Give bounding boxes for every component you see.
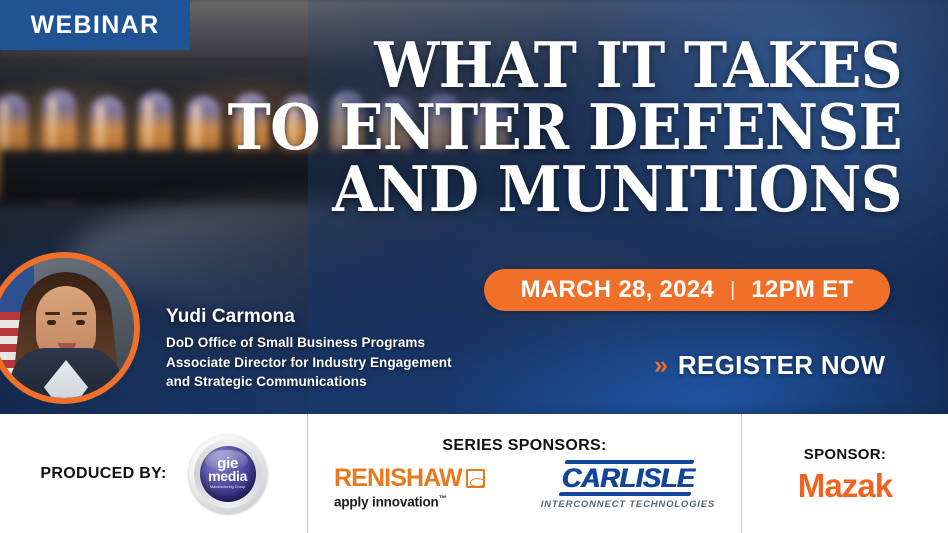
- carlisle-swoosh-bottom: [559, 492, 692, 496]
- webinar-badge: WEBINAR: [0, 0, 190, 50]
- webinar-time: 12PM ET: [751, 276, 853, 304]
- renishaw-logo: RENISHAW apply innovation™: [334, 466, 485, 510]
- series-sponsors-section: SERIES SPONSORS: RENISHAW apply innovati…: [307, 414, 742, 533]
- speaker-name: Yudi Carmona: [166, 306, 452, 328]
- avatar-eye-right: [76, 320, 85, 325]
- carlisle-wordmark: CARLISLE: [561, 463, 694, 493]
- produced-by-label: PRODUCED BY:: [40, 465, 166, 483]
- webinar-date: MARCH 28, 2024: [521, 276, 714, 304]
- speaker-title-line-1: Associate Director for Industry Engageme…: [166, 353, 452, 373]
- mazak-logo: Mazak: [798, 469, 892, 502]
- sponsor-label: SPONSOR:: [804, 446, 886, 463]
- webinar-badge-label: WEBINAR: [30, 11, 159, 40]
- produced-by-section: PRODUCED BY: gie media Manufacturing Gro…: [0, 414, 307, 533]
- renishaw-wordmark-row: RENISHAW: [334, 466, 485, 491]
- avatar-brow-left: [45, 312, 60, 315]
- headline: WHAT IT TAKES TO ENTER DEFENSE AND MUNIT…: [169, 36, 902, 222]
- renishaw-mark-icon: [466, 469, 485, 488]
- webinar-promo-graphic: WEBINAR WHAT IT TAKES TO ENTER DEFENSE A…: [0, 0, 948, 533]
- renishaw-tagline-text: apply innovation: [334, 494, 439, 509]
- speaker-title-line-2: and Strategic Communications: [166, 372, 452, 392]
- headline-line-1: WHAT IT TAKES: [228, 36, 902, 96]
- sponsor-footer: PRODUCED BY: gie media Manufacturing Gro…: [0, 414, 948, 533]
- carlisle-tagline: INTERCONNECT TECHNOLOGIES: [541, 499, 715, 510]
- headline-line-2: TO ENTER DEFENSE: [228, 98, 902, 158]
- hero-section: WEBINAR WHAT IT TAKES TO ENTER DEFENSE A…: [0, 0, 948, 414]
- double-chevron-right-icon: »: [654, 353, 668, 378]
- register-now-button[interactable]: » REGISTER NOW: [654, 350, 885, 381]
- renishaw-trademark-icon: ™: [439, 494, 447, 503]
- avatar-brow-right: [72, 312, 87, 315]
- register-now-label: REGISTER NOW: [678, 350, 885, 381]
- date-time-pill: MARCH 28, 2024 | 12PM ET: [484, 269, 890, 311]
- carlisle-logo: CARLISLE INTERCONNECT TECHNOLOGIES: [541, 465, 715, 510]
- gie-logo-inner: gie media Manufacturing Group: [200, 446, 256, 502]
- pill-separator: |: [730, 279, 735, 302]
- gie-logo-tagline: Manufacturing Group: [210, 485, 245, 489]
- carlisle-wordmark-wrap: CARLISLE: [561, 465, 694, 492]
- speaker-details: Yudi Carmona DoD Office of Small Busines…: [166, 306, 452, 392]
- carlisle-swoosh-top: [565, 460, 695, 464]
- renishaw-wordmark: RENISHAW: [334, 466, 462, 491]
- avatar-eye-left: [47, 320, 56, 325]
- renishaw-tagline: apply innovation™: [334, 494, 447, 510]
- series-sponsor-logos: RENISHAW apply innovation™ CARLISLE INTE…: [334, 465, 715, 510]
- speaker-avatar: [0, 252, 140, 404]
- gie-media-logo: gie media Manufacturing Group: [189, 435, 267, 513]
- speaker-organization: DoD Office of Small Business Programs: [166, 333, 452, 353]
- series-sponsors-label: SERIES SPONSORS:: [442, 437, 606, 455]
- gie-logo-word-2: media: [208, 470, 247, 483]
- sponsor-section: SPONSOR: Mazak: [742, 414, 948, 533]
- headline-line-3: AND MUNITIONS: [228, 160, 902, 220]
